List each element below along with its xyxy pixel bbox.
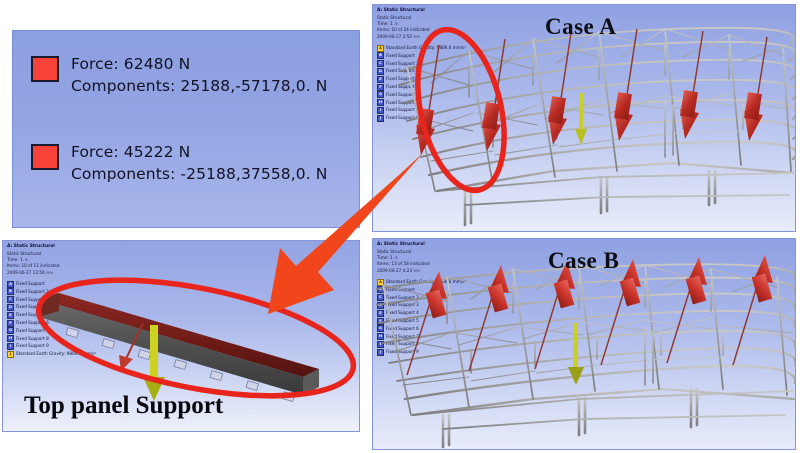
gravity-arrow-icon [575, 93, 587, 145]
support-badge-icon: H [7, 335, 14, 342]
tree-item[interactable]: BFixed Support 2 [7, 288, 96, 295]
tree-item-label: Fixed Support 7 [386, 334, 419, 340]
gravity-arrow-icon [568, 323, 584, 385]
tree-item[interactable]: GFixed Support 7 [7, 327, 96, 334]
tree-item[interactable]: DFixed Support 4 [7, 304, 96, 311]
tree-item-label: Fixed Support 8 [386, 341, 419, 347]
tree-item-label: Fixed Support 4 [386, 310, 419, 316]
tree-item[interactable]: HFixed Support 7 [377, 333, 466, 340]
tree-item[interactable]: GFixed Support 6 [377, 91, 466, 98]
support-badge-icon: E [377, 76, 384, 83]
tree-item-label: Fixed Support 2 [16, 289, 49, 295]
legend-entry-1-force: Force: 62480 N [71, 55, 190, 73]
case-b-annotation-tree: A: Static Structural Static Structural T… [377, 242, 466, 356]
tree-item-list: AStandard Earth Gravity: 9806.6 mm/s²BFi… [377, 45, 466, 122]
tree-item[interactable]: JStandard Earth Gravity: 9806.6 mm/s² [7, 351, 96, 358]
tree-item-label: Fixed Support 9 [386, 115, 419, 121]
support-badge-icon: I [377, 341, 384, 348]
tree-item-label: Fixed Support 4 [386, 76, 419, 82]
tree-header: A: Static Structural [377, 242, 466, 249]
tree-item-label: Fixed Support 2 [386, 61, 419, 67]
support-badge-icon: I [7, 343, 14, 350]
tree-item-label: Fixed Support 5 [16, 312, 49, 318]
tree-item[interactable]: EFixed Support 5 [7, 312, 96, 319]
support-badge-icon: E [377, 310, 384, 317]
tree-item[interactable]: FFixed Support 6 [7, 320, 96, 327]
tree-item[interactable]: AStandard Earth Gravity: 9806.6 mm/s² [377, 279, 466, 286]
tree-item[interactable]: CFixed Support 2 [377, 294, 466, 301]
tree-item[interactable]: EFixed Support 4 [377, 76, 466, 83]
tree-item-label: Fixed Support 5 [386, 84, 419, 90]
force-legend-box: Force: 62480 N Components: 25188,-57178,… [12, 30, 360, 228]
support-badge-icon: B [377, 286, 384, 293]
legend-entry-2: Force: 45222 N Components: -25188,37558,… [31, 141, 328, 186]
tree-item[interactable]: AStandard Earth Gravity: 9806.6 mm/s² [377, 45, 466, 52]
support-badge-icon: J [377, 349, 384, 356]
support-badge-icon: H [377, 99, 384, 106]
case-b-title: Case B [548, 248, 619, 274]
tree-item[interactable]: AFixed Support [7, 281, 96, 288]
support-badge-icon: B [7, 288, 14, 295]
tree-item-label: Fixed Support 6 [16, 320, 49, 326]
tree-item[interactable]: BFixed Support [377, 286, 466, 293]
tree-item[interactable]: JFixed Support 9 [377, 349, 466, 356]
force-color-swatch-icon [31, 144, 59, 170]
tree-item-label: Fixed Support 4 [16, 304, 49, 310]
support-badge-icon: D [7, 304, 14, 311]
tree-item[interactable]: JFixed Support 9 [377, 115, 466, 122]
tree-item-label: Fixed Support 3 [16, 297, 49, 303]
support-badge-icon: G [7, 327, 14, 334]
tree-item-label: Fixed Support 9 [386, 349, 419, 355]
support-badge-icon: F [377, 318, 384, 325]
tree-item[interactable]: FFixed Support 5 [377, 318, 466, 325]
support-badge-icon: J [377, 115, 384, 122]
support-badge-icon: C [377, 294, 384, 301]
tree-header: A: Static Structural [377, 8, 466, 15]
tree-item-label: Fixed Support 3 [386, 68, 419, 74]
tree-item[interactable]: EFixed Support 4 [377, 310, 466, 317]
legend-entry-1: Force: 62480 N Components: 25188,-57178,… [31, 53, 328, 98]
tree-item-label: Standard Earth Gravity: 9806.6 mm/s² [386, 45, 466, 51]
tree-item-list: AFixed SupportBFixed Support 2CFixed Sup… [7, 281, 96, 358]
tree-item[interactable]: IFixed Support 8 [377, 107, 466, 114]
support-badge-icon: D [377, 302, 384, 309]
top-panel-annotation-tree: A: Static Structural Static Structural T… [7, 244, 96, 358]
tree-item-label: Fixed Support [16, 281, 45, 287]
support-badge-icon: H [377, 333, 384, 340]
support-badge-icon: I [377, 107, 384, 114]
top-panel-support-title: Top panel Support [24, 392, 223, 420]
tree-item-label: Fixed Support [386, 53, 415, 59]
tree-item[interactable]: IFixed Support 8 [377, 341, 466, 348]
tree-item[interactable]: IFixed Support 9 [7, 343, 96, 350]
case-a-annotation-tree: A: Static Structural Static Structural T… [377, 8, 466, 122]
tree-item[interactable]: BFixed Support [377, 52, 466, 59]
tree-item-label: Standard Earth Gravity: 9806.6 mm/s² [16, 351, 96, 357]
support-badge-icon: B [377, 52, 384, 59]
support-badge-icon: F [7, 320, 14, 327]
tree-item-label: Fixed Support 2 [386, 295, 419, 301]
support-badge-icon: F [377, 84, 384, 91]
tree-item-label: Fixed Support 3 [386, 302, 419, 308]
tree-item[interactable]: DFixed Support 3 [377, 68, 466, 75]
gravity-badge-icon: A [377, 45, 384, 52]
gravity-arrow-icon [119, 323, 165, 401]
tree-item[interactable]: CFixed Support 3 [7, 296, 96, 303]
tree-item-label: Fixed Support 8 [16, 336, 49, 342]
force-arrow-group [416, 29, 767, 155]
case-a-title: Case A [545, 14, 616, 40]
legend-entry-1-components: Components: 25188,-57178,0. N [71, 77, 328, 95]
tree-item[interactable]: FFixed Support 5 [377, 84, 466, 91]
tree-item-label: Standard Earth Gravity: 9806.6 mm/s² [386, 279, 466, 285]
tree-item-label: Fixed Support 6 [386, 92, 419, 98]
gravity-badge-icon: A [377, 279, 384, 286]
tree-item[interactable]: GFixed Support 6 [377, 325, 466, 332]
tree-item-label: Fixed Support 7 [16, 328, 49, 334]
tree-item-label: Fixed Support [386, 287, 415, 293]
tree-item-label: Fixed Support 5 [386, 318, 419, 324]
tree-item[interactable]: HFixed Support 8 [7, 335, 96, 342]
gravity-badge-icon: J [7, 351, 14, 358]
support-badge-icon: D [377, 68, 384, 75]
support-badge-icon: C [7, 296, 14, 303]
legend-entry-2-force: Force: 45222 N [71, 143, 190, 161]
tree-item[interactable]: DFixed Support 3 [377, 302, 466, 309]
tree-item-label: Fixed Support 9 [16, 343, 49, 349]
tree-header: A: Static Structural [7, 244, 96, 251]
support-badge-icon: E [7, 312, 14, 319]
support-badge-icon: C [377, 60, 384, 67]
tree-item-list: AStandard Earth Gravity: 9806.6 mm/s²BFi… [377, 279, 466, 356]
support-badge-icon: A [7, 281, 14, 288]
tree-item[interactable]: HFixed Support 7 [377, 99, 466, 106]
support-badge-icon: G [377, 91, 384, 98]
legend-entry-1-text: Force: 62480 N Components: 25188,-57178,… [71, 53, 328, 98]
support-badge-icon: G [377, 325, 384, 332]
legend-entry-2-text: Force: 45222 N Components: -25188,37558,… [71, 141, 328, 186]
tree-item-label: Fixed Support 8 [386, 107, 419, 113]
force-color-swatch-icon [31, 56, 59, 82]
legend-entry-2-components: Components: -25188,37558,0. N [71, 165, 328, 183]
tree-item-label: Fixed Support 6 [386, 326, 419, 332]
tree-item[interactable]: CFixed Support 2 [377, 60, 466, 67]
tree-item-label: Fixed Support 7 [386, 100, 419, 106]
